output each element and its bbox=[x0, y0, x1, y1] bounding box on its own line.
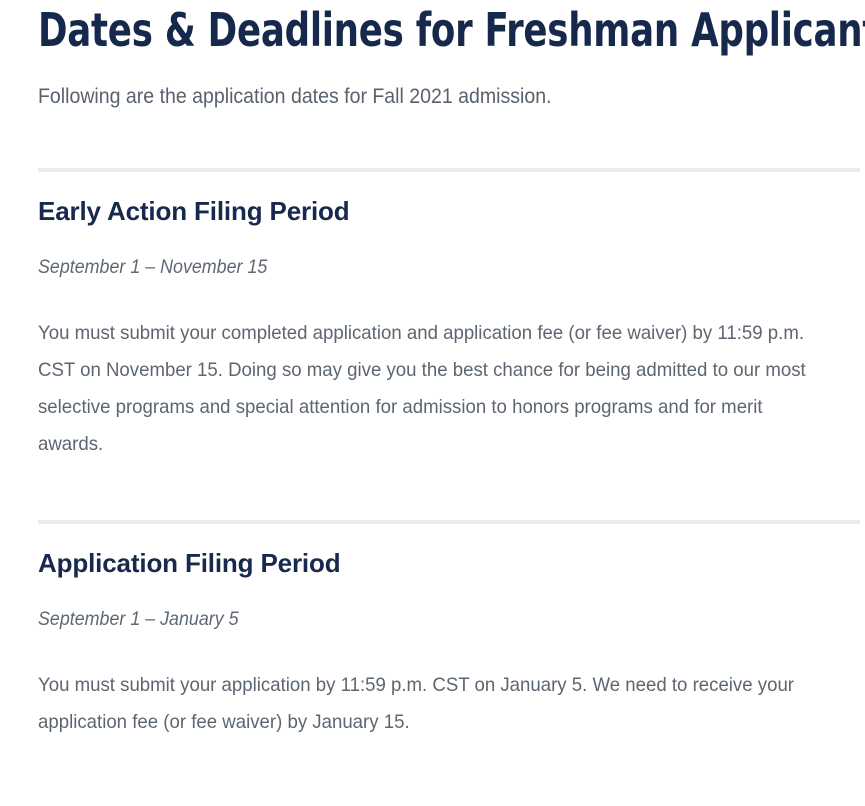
section-application-filing: Application Filing Period September 1 – … bbox=[38, 520, 860, 741]
page-intro-text: Following are the application dates for … bbox=[38, 58, 802, 112]
section-body-text: You must submit your completed applicati… bbox=[38, 281, 823, 463]
section-heading: Early Action Filing Period bbox=[38, 172, 860, 227]
section-heading: Application Filing Period bbox=[38, 524, 860, 579]
section-date-range: September 1 – January 5 bbox=[38, 579, 811, 633]
document-page: Dates & Deadlines for Freshman Applicant… bbox=[0, 0, 865, 741]
section-date-range: September 1 – November 15 bbox=[38, 227, 811, 281]
section-body-text: You must submit your application by 11:5… bbox=[38, 633, 807, 741]
section-early-action: Early Action Filing Period September 1 –… bbox=[38, 168, 860, 463]
page-title: Dates & Deadlines for Freshman Applicant… bbox=[38, 0, 745, 58]
